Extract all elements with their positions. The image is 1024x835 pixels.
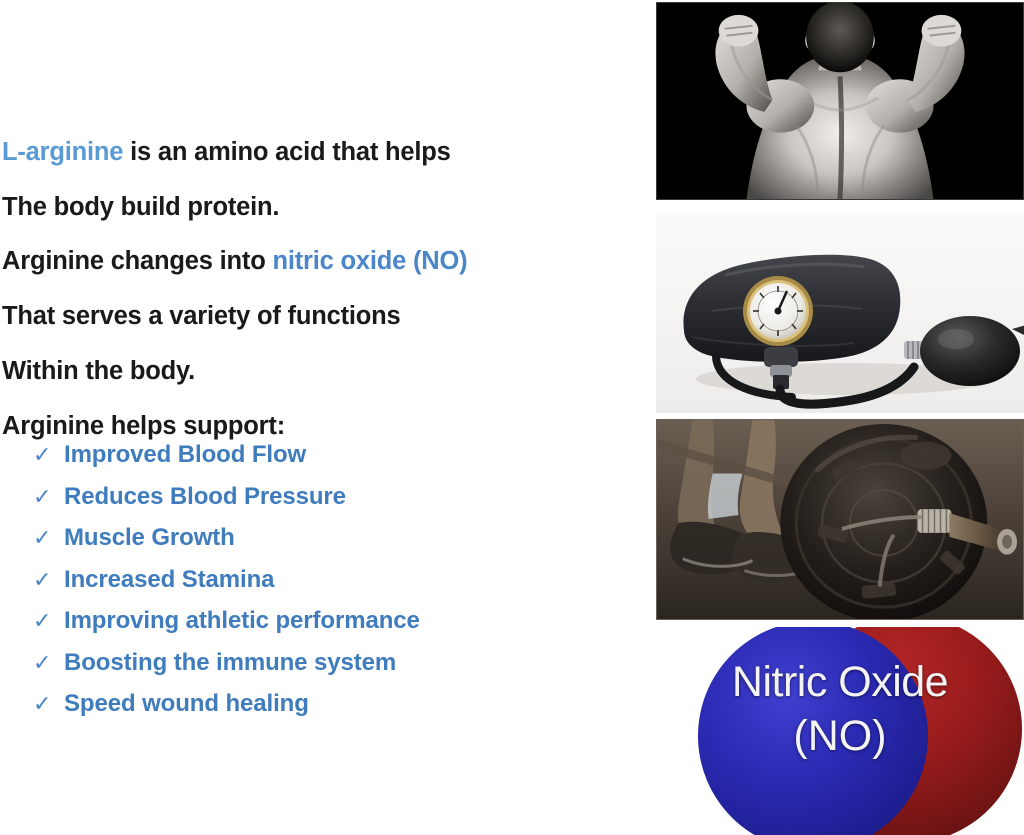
body-line-4: That serves a variety of functions: [2, 302, 401, 331]
list-item-label: Improved Blood Flow: [64, 441, 306, 469]
body-line-3: Arginine changes into nitric oxide (NO): [2, 247, 467, 276]
nitric-oxide-label-line1: Nitric Oxide: [656, 659, 1024, 705]
check-icon: ✓: [33, 444, 64, 466]
list-item: ✓ Speed wound healing: [33, 690, 420, 732]
body-line-1: L-arginine is an amino acid that helps: [2, 138, 451, 167]
bodybuilder-back-illustration: [657, 3, 1023, 199]
check-icon: ✓: [33, 693, 64, 715]
check-icon: ✓: [33, 610, 64, 632]
list-item-label: Muscle Growth: [64, 524, 235, 552]
list-item-label: Boosting the immune system: [64, 649, 396, 677]
check-icon: ✓: [33, 486, 64, 508]
list-item-label: Increased Stamina: [64, 566, 274, 594]
nitric-oxide-label-line2: (NO): [656, 713, 1024, 759]
image-column: Nitric Oxide (NO): [656, 0, 1024, 835]
check-icon: ✓: [33, 569, 64, 591]
list-item: ✓ Muscle Growth: [33, 524, 420, 566]
list-item-label: Reduces Blood Pressure: [64, 483, 346, 511]
list-item-label: Improving athletic performance: [64, 607, 420, 635]
body-line-6: Arginine helps support:: [2, 412, 285, 441]
barbell-illustration: [657, 420, 1023, 619]
body-line-2: The body build protein.: [2, 193, 279, 222]
nitric-oxide-molecule-graphic: Nitric Oxide (NO): [656, 627, 1024, 835]
blood-pressure-monitor-photo: [656, 211, 1024, 413]
body-line-3-lead: Arginine changes into: [2, 247, 272, 275]
list-item: ✓ Reduces Blood Pressure: [33, 483, 420, 525]
body-line-3-highlight: nitric oxide (NO): [272, 247, 467, 275]
slide-canvas: L-arginine is an amino acid that helps T…: [0, 0, 1024, 835]
barbell-weight-plate-photo: [656, 419, 1024, 620]
body-line-1-highlight: L-arginine: [2, 138, 123, 166]
body-line-1-rest: is an amino acid that helps: [123, 138, 450, 166]
benefits-list: ✓ Improved Blood Flow ✓ Reduces Blood Pr…: [33, 441, 420, 732]
check-icon: ✓: [33, 527, 64, 549]
list-item: ✓ Improving athletic performance: [33, 607, 420, 649]
bodybuilder-back-photo: [656, 2, 1024, 200]
list-item-label: Speed wound healing: [64, 690, 309, 718]
body-line-5: Within the body.: [2, 357, 195, 386]
text-column: L-arginine is an amino acid that helps T…: [0, 0, 640, 835]
sphygmomanometer-illustration: [656, 211, 1024, 413]
list-item: ✓ Improved Blood Flow: [33, 441, 420, 483]
list-item: ✓ Increased Stamina: [33, 566, 420, 608]
list-item: ✓ Boosting the immune system: [33, 649, 420, 691]
check-icon: ✓: [33, 652, 64, 674]
no-sphere-stage: Nitric Oxide (NO): [656, 627, 1024, 835]
nitric-oxide-label: Nitric Oxide (NO): [656, 659, 1024, 760]
